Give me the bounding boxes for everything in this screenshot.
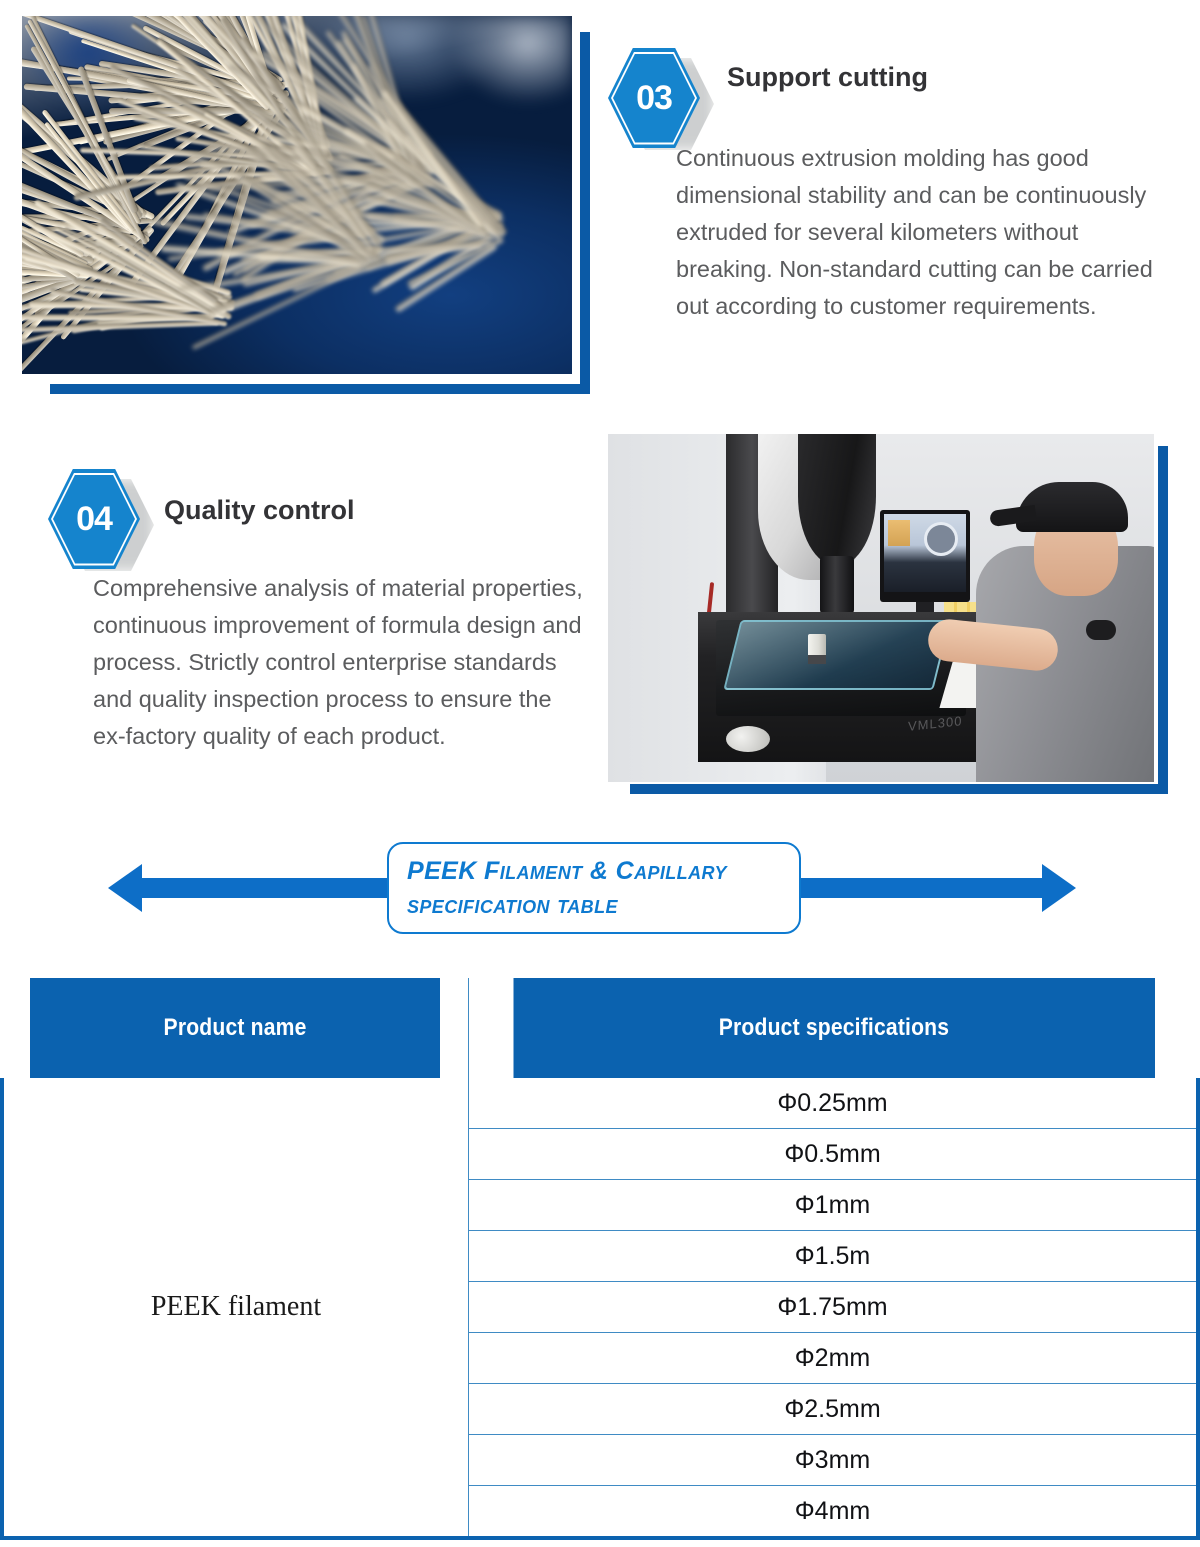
arrow-right-head (1042, 864, 1076, 912)
banner-title-box: PEEK Filament & Capillary specification … (387, 842, 801, 934)
cell-product-specification: Φ2mm (469, 1333, 1199, 1384)
step-number-03: 03 (608, 48, 700, 148)
column-header-product-specifications-label: Product specifications (718, 1014, 948, 1042)
monitor-screen (884, 514, 966, 592)
section-title-quality-control: Quality control (164, 495, 355, 526)
step-badge-03: 03 (608, 48, 700, 148)
section-title-support-cutting: Support cutting (727, 62, 928, 93)
camera-lens (820, 556, 854, 614)
section-body-support-cutting: Continuous extrusion molding has good di… (676, 140, 1176, 325)
cell-product-specification: Φ1.5m (469, 1231, 1199, 1282)
quality-control-figure: VML300 (608, 434, 1168, 794)
cell-product-specification: Φ1.75mm (469, 1282, 1199, 1333)
column-header-product-name-label: Product name (164, 1014, 307, 1042)
cell-product-specification: Φ2.5mm (469, 1384, 1199, 1435)
step-badge-04: 04 (48, 469, 140, 569)
stage-roller (726, 726, 770, 752)
specification-table: Product name Product specifications PEEK… (0, 978, 1200, 1540)
computer-mouse (1086, 620, 1116, 640)
arrow-left-head (108, 864, 142, 912)
glass-stage-plate (723, 620, 950, 690)
table-header: Product name Product specifications (2, 978, 1198, 1078)
step-number-04: 04 (48, 469, 140, 569)
quality-control-photo: VML300 (608, 434, 1154, 782)
photo-frame-right-bar (580, 32, 590, 394)
banner-title-line-2: specification table (407, 888, 799, 922)
table-body: PEEK filamentΦ0.25mmΦ0.5mmΦ1mmΦ1.5mΦ1.75… (2, 1078, 1198, 1538)
sample-cup (808, 634, 826, 664)
operator-cap (1016, 482, 1128, 532)
cell-product-specification: Φ0.25mm (469, 1078, 1199, 1129)
photo-frame-right-bar (1158, 446, 1168, 794)
cell-product-name: PEEK filament (2, 1078, 469, 1538)
photo-frame-bottom-bar (50, 384, 590, 394)
table-row: PEEK filamentΦ0.25mm (2, 1078, 1198, 1129)
cell-product-specification: Φ3mm (469, 1435, 1199, 1486)
monitor (880, 510, 970, 602)
column-header-product-specifications: Product specifications (512, 978, 1154, 1078)
screen-measured-circle (927, 525, 955, 553)
banner-title-line-1: PEEK Filament & Capillary (407, 854, 799, 888)
photo-frame-bottom-bar (630, 784, 1168, 794)
peek-filament-rods-figure (22, 16, 590, 394)
screen-panel (888, 520, 910, 546)
cell-product-specification: Φ0.5mm (469, 1129, 1199, 1180)
cell-product-specification: Φ1mm (469, 1180, 1199, 1231)
cell-product-specification: Φ4mm (469, 1486, 1199, 1539)
spec-table-banner: PEEK Filament & Capillary specification … (108, 852, 1076, 924)
table-header-row: Product name Product specifications (2, 978, 1198, 1078)
column-header-product-name: Product name (30, 978, 441, 1078)
rod-bundle (22, 16, 572, 374)
section-body-quality-control: Comprehensive analysis of material prope… (93, 570, 583, 755)
peek-filament-rods-photo (22, 16, 572, 374)
